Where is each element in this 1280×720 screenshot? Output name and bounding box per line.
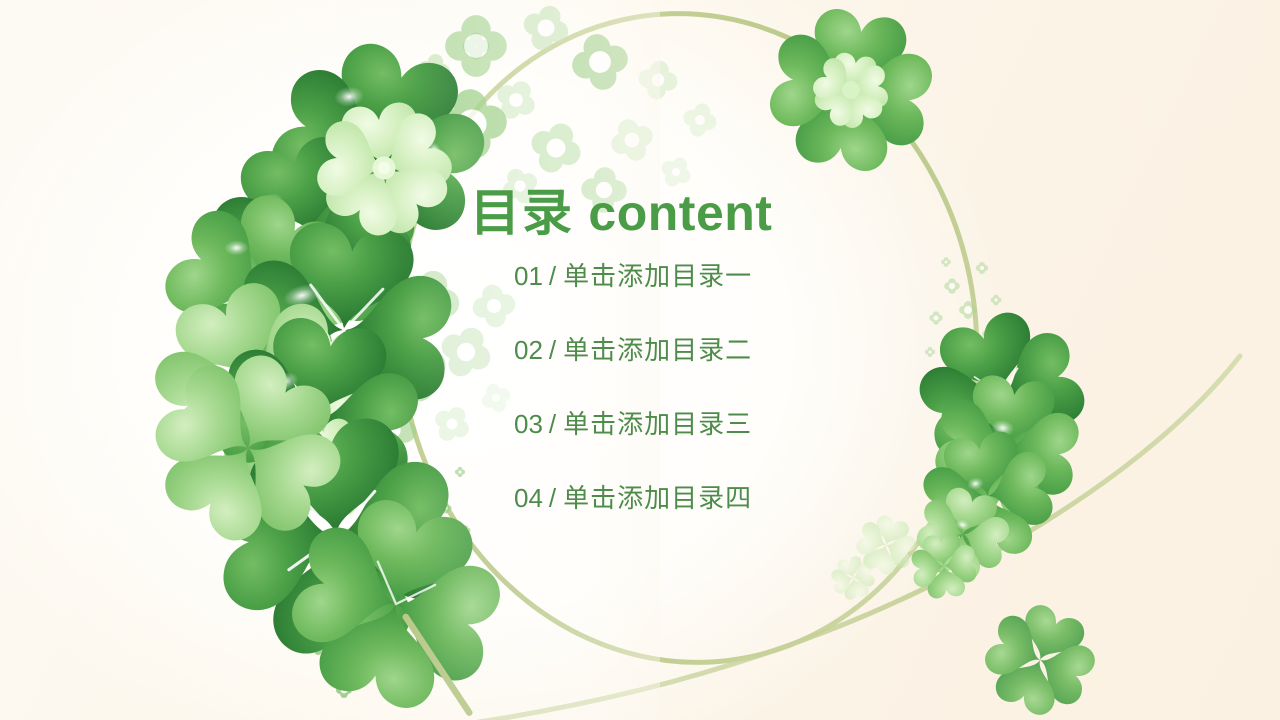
toc-label: 单击添加目录一: [563, 261, 752, 291]
page-title-cn: 目录: [470, 185, 574, 241]
toc-separator: /: [543, 335, 563, 365]
toc-label: 单击添加目录三: [563, 409, 752, 439]
toc-separator: /: [543, 409, 563, 439]
page-title: 目录 content: [470, 186, 900, 241]
slide-canvas: 目录 content 01/单击添加目录一 02/单击添加目录二 03/单击添加…: [0, 0, 1280, 720]
toc-label: 单击添加目录四: [563, 483, 752, 513]
toc-item-03[interactable]: 03/单击添加目录三: [514, 411, 900, 437]
toc-number: 02: [514, 335, 543, 365]
toc-number: 01: [514, 261, 543, 291]
toc-number: 03: [514, 409, 543, 439]
toc-label: 单击添加目录二: [563, 335, 752, 365]
toc-item-02[interactable]: 02/单击添加目录二: [514, 337, 900, 363]
toc-number: 04: [514, 483, 543, 513]
clover-leaf-on-ring: [761, 0, 941, 180]
toc-separator: /: [543, 483, 563, 513]
clover-leaf: [972, 592, 1108, 720]
page-title-en: content: [588, 185, 772, 241]
toc-item-01[interactable]: 01/单击添加目录一: [514, 263, 900, 289]
toc-item-04[interactable]: 04/单击添加目录四: [514, 485, 900, 511]
toc-separator: /: [543, 261, 563, 291]
content-text-block: 目录 content 01/单击添加目录一 02/单击添加目录二 03/单击添加…: [470, 186, 900, 511]
toc-list: 01/单击添加目录一 02/单击添加目录二 03/单击添加目录三 04/单击添加…: [470, 263, 900, 511]
